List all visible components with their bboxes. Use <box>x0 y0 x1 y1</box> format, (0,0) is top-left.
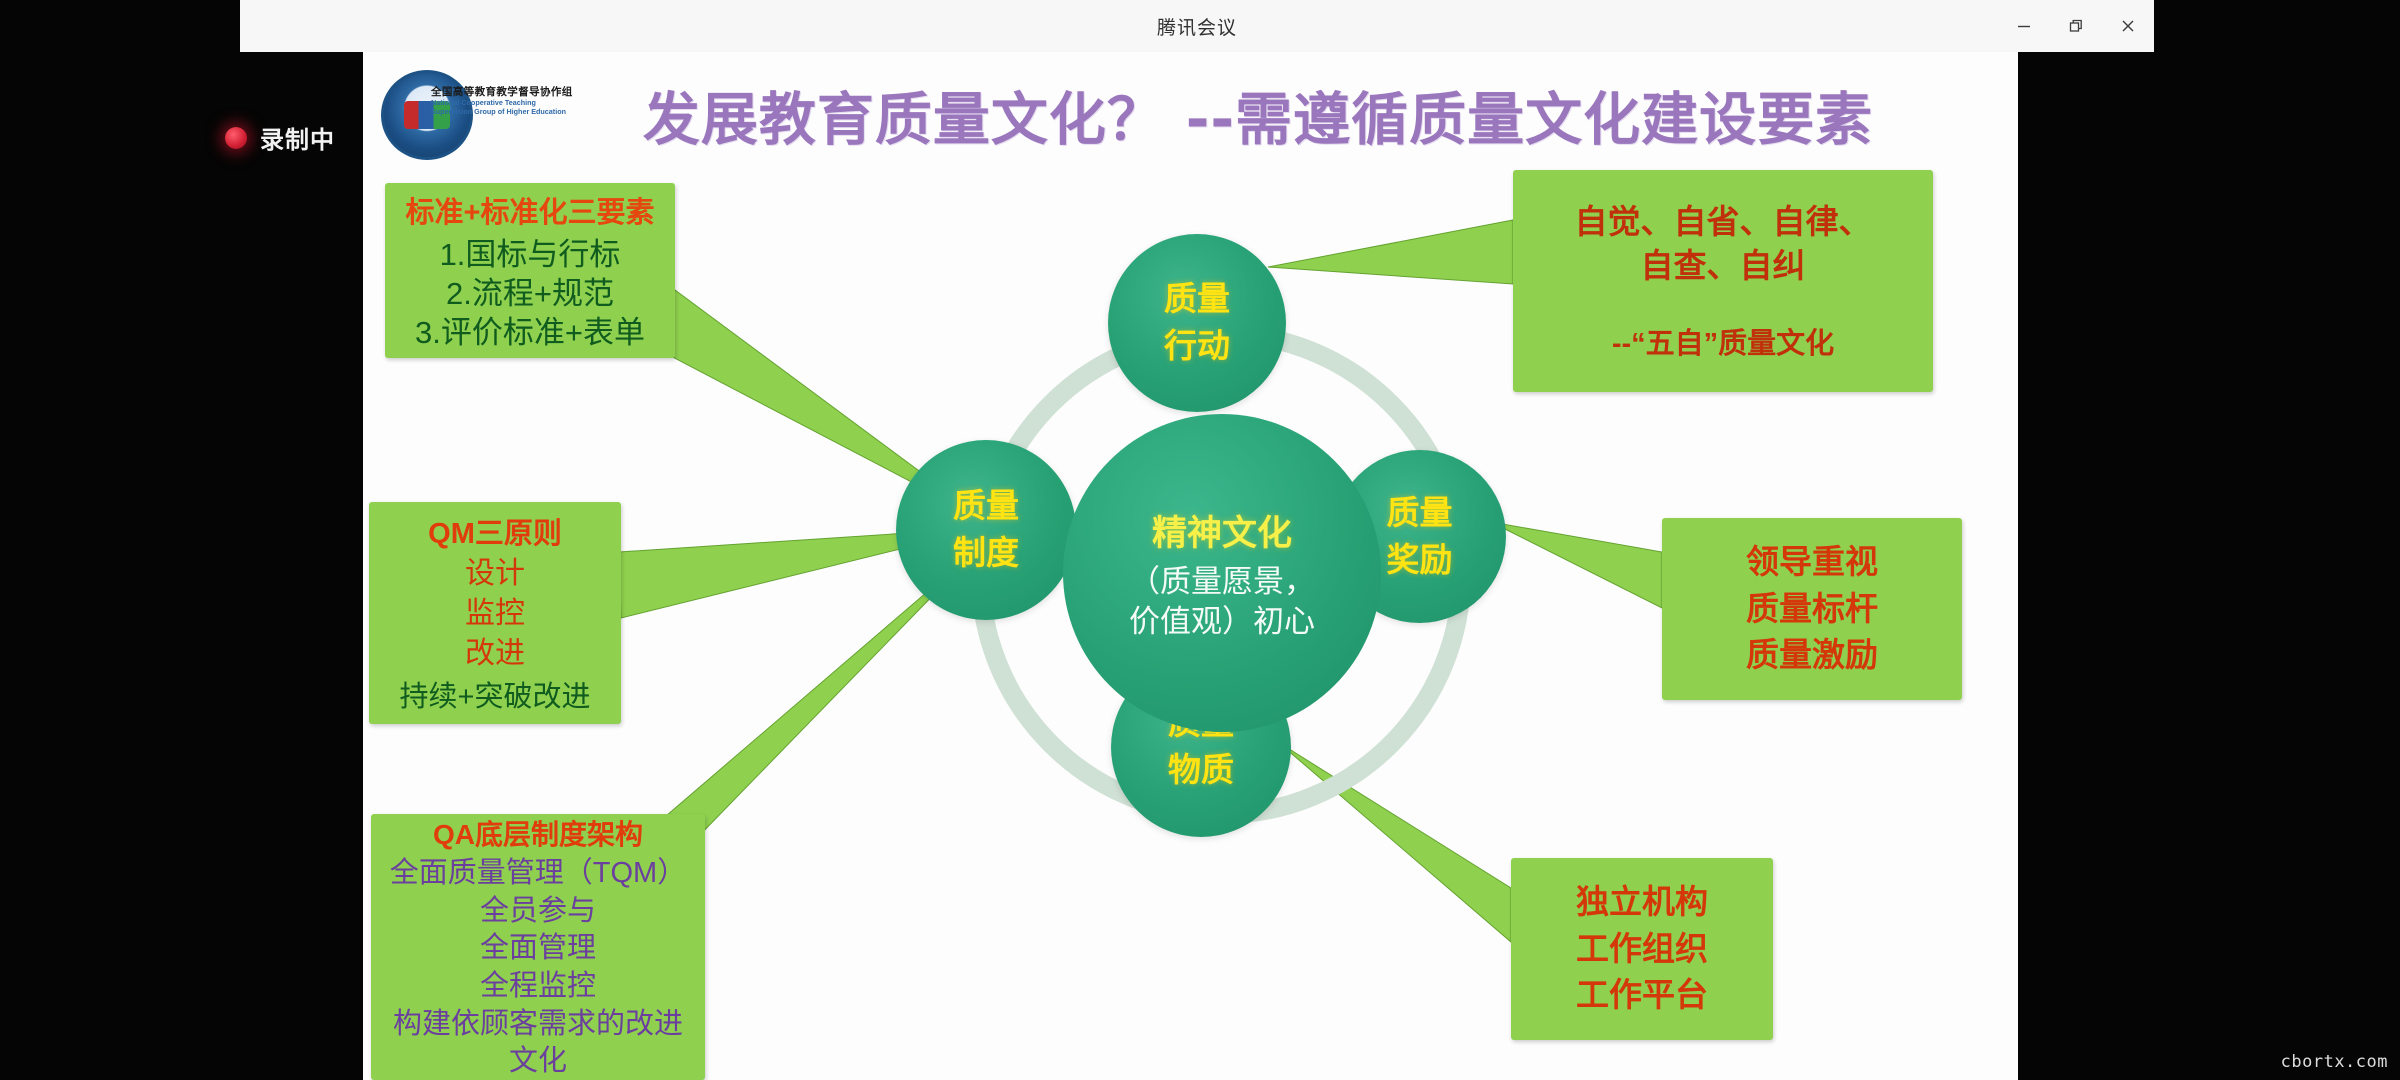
leadership-line-1: 领导重视 <box>1746 539 1878 586</box>
node-reward-line-1: 质量 <box>1387 490 1453 537</box>
center-sub-line-1: （质量愿景， <box>1129 562 1315 601</box>
callout-qa-architecture[interactable]: QA底层制度架构 全面质量管理（TQM） 全员参与 全面管理 全程监控 构建依顾… <box>371 814 705 1080</box>
recording-indicator: 录制中 <box>225 120 335 155</box>
callout-five-self[interactable]: 自觉、自省、自律、 自查、自纠 --“五自”质量文化 <box>1513 170 1933 392</box>
qm-footer: 持续+突破改进 <box>400 678 591 717</box>
window-controls <box>1998 0 2154 52</box>
organization-line-2: 工作组织 <box>1576 926 1708 973</box>
node-system-line-1: 质量 <box>953 483 1019 530</box>
standards-line-2: 2.流程+规范 <box>446 274 614 313</box>
center-spiritual-culture[interactable]: 精神文化 （质量愿景， 价值观）初心 <box>1063 414 1381 732</box>
organization-line-1: 独立机构 <box>1576 879 1708 926</box>
slide-title: 发展教育质量文化？ --需遵循质量文化建设要素 <box>513 74 2003 156</box>
screen: 腾讯会议 录制中 <box>0 0 2400 1080</box>
standards-line-3: 3.评价标准+表单 <box>415 313 645 352</box>
node-quality-system[interactable]: 质量 制度 <box>896 440 1076 620</box>
five-self-tail: --“五自”质量文化 <box>1612 320 1834 362</box>
qa-line-1: 全面质量管理（TQM） <box>390 855 686 893</box>
standards-line-1: 1.国标与行标 <box>440 235 621 274</box>
qa-line-4: 全程监控 <box>480 968 596 1006</box>
window-title: 腾讯会议 <box>1157 13 1237 40</box>
qa-header: QA底层制度架构 <box>433 813 643 853</box>
node-action-line-2: 行动 <box>1164 323 1230 370</box>
qm-line-3: 改进 <box>465 634 525 674</box>
qa-line-3: 全面管理 <box>480 930 596 968</box>
five-self-line-1: 自觉、自省、自律、 <box>1575 200 1872 244</box>
qa-line-5: 构建依顾客需求的改进文化 <box>381 1006 695 1080</box>
qa-line-2: 全员参与 <box>480 893 596 931</box>
standards-header: 标准+标准化三要素 <box>406 189 655 231</box>
shared-slide: 全国高等教育教学督导协作组 National Cooperative Teach… <box>363 52 2018 1080</box>
organization-logo: 全国高等教育教学督导协作组 National Cooperative Teach… <box>373 66 518 163</box>
callout-organization[interactable]: 独立机构 工作组织 工作平台 <box>1511 858 1773 1040</box>
qm-line-1: 设计 <box>465 554 525 594</box>
organization-line-3: 工作平台 <box>1576 972 1708 1019</box>
close-button[interactable] <box>2102 0 2154 52</box>
leadership-line-3: 质量激励 <box>1746 632 1878 679</box>
node-matter-line-2: 物质 <box>1168 747 1234 794</box>
node-action-line-1: 质量 <box>1164 276 1230 323</box>
record-dot-icon <box>225 127 247 149</box>
five-self-line-2: 自查、自纠 <box>1641 244 1806 288</box>
qm-line-2: 监控 <box>465 594 525 634</box>
watermark: cbortx.com <box>2281 1052 2388 1072</box>
callout-leadership[interactable]: 领导重视 质量标杆 质量激励 <box>1662 518 1962 700</box>
qm-header: QM三原则 <box>428 510 562 552</box>
callout-qm-principles[interactable]: QM三原则 设计 监控 改进 持续+突破改进 <box>369 502 621 724</box>
recording-label: 录制中 <box>260 120 335 155</box>
callout-standards[interactable]: 标准+标准化三要素 1.国标与行标 2.流程+规范 3.评价标准+表单 <box>385 183 675 358</box>
node-reward-line-2: 奖励 <box>1387 537 1453 584</box>
restore-button[interactable] <box>2050 0 2102 52</box>
tencent-meeting-window-titlebar: 腾讯会议 <box>240 0 2154 52</box>
leadership-line-2: 质量标杆 <box>1746 586 1878 633</box>
center-heading: 精神文化 <box>1152 505 1292 556</box>
center-sub-line-2: 价值观）初心 <box>1129 602 1315 641</box>
minimize-button[interactable] <box>1998 0 2050 52</box>
node-system-line-2: 制度 <box>953 530 1019 577</box>
node-quality-action[interactable]: 质量 行动 <box>1108 234 1286 412</box>
